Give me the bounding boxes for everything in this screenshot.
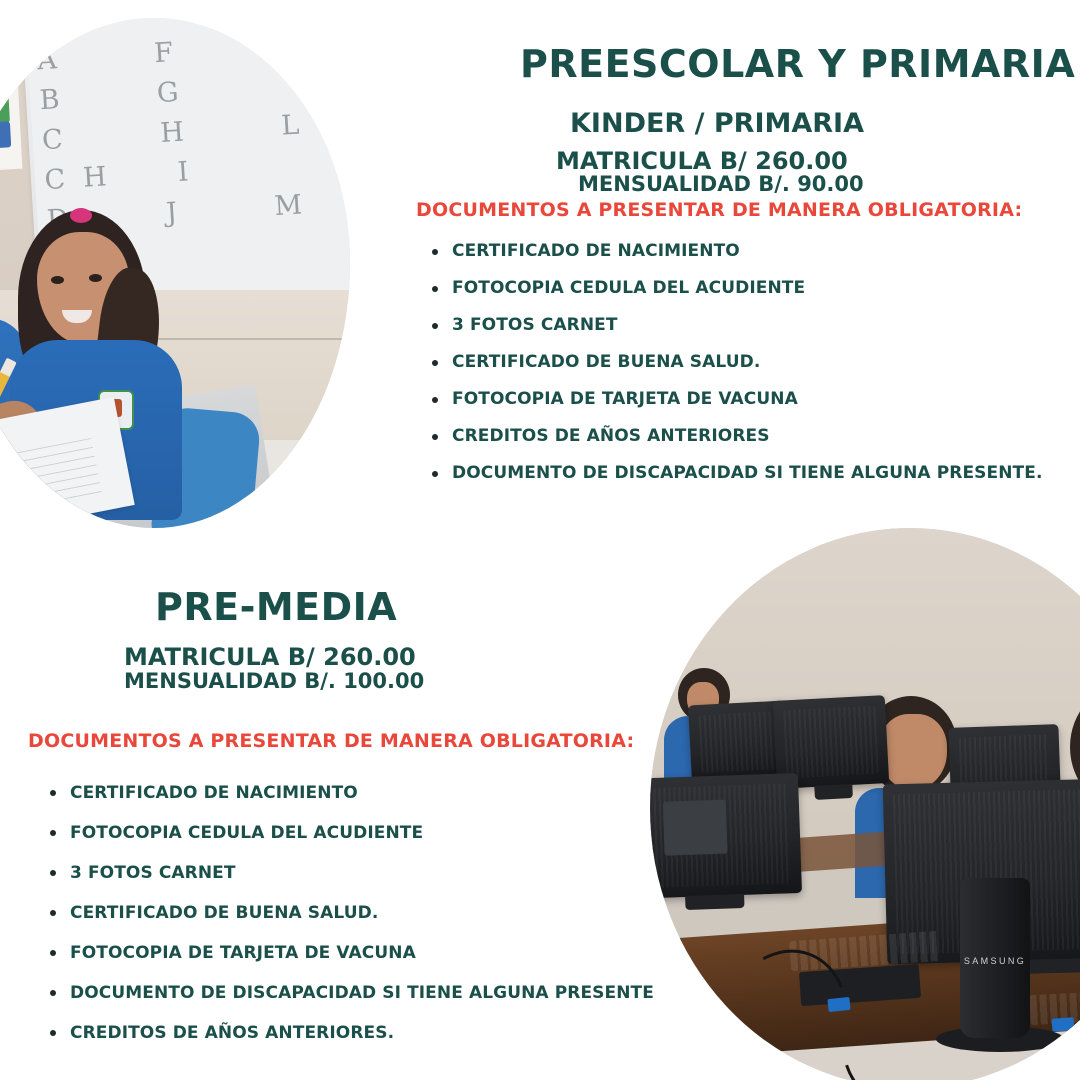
section-2-document-list: CERTIFICADO DE NACIMIENTO FOTOCOPIA CEDU… — [48, 773, 654, 1053]
bullet-icon — [432, 360, 438, 366]
list-item: CERTIFICADO DE BUENA SALUD. — [48, 893, 654, 933]
lab-vga-plug-2 — [1052, 1017, 1075, 1032]
lab-monitor-3 — [650, 773, 802, 899]
bullet-icon — [50, 830, 56, 836]
list-item: CERTIFICADO DE NACIMIENTO — [430, 233, 1043, 270]
section-1-mensualidad: MENSUALIDAD B/. 90.00 — [578, 172, 864, 196]
monitor-vent — [783, 706, 878, 779]
classroom-photo: A F D B G C H L CH I D J M — [0, 18, 350, 528]
list-item: 3 FOTOS CARNET — [48, 853, 654, 893]
section-2-matricula: MATRICULA B/ 260.00 — [124, 643, 416, 671]
bullet-icon — [432, 249, 438, 255]
bullet-icon — [50, 790, 56, 796]
list-item: CREDITOS DE AÑOS ANTERIORES. — [48, 1013, 654, 1053]
bullet-icon — [50, 950, 56, 956]
list-item-label: DOCUMENTO DE DISCAPACIDAD SI TIENE ALGUN… — [452, 463, 1043, 483]
speaker-brand-label: SAMSUNG — [960, 956, 1030, 966]
list-item: FOTOCOPIA CEDULA DEL ACUDIENTE — [48, 813, 654, 853]
bullet-icon — [50, 1030, 56, 1036]
section-2-mensualidad: MENSUALIDAD B/. 100.00 — [124, 669, 424, 693]
bullet-icon — [432, 286, 438, 292]
list-item-label: CREDITOS DE AÑOS ANTERIORES — [452, 426, 770, 446]
poster-canvas: A F D B G C H L CH I D J M — [0, 0, 1080, 1080]
section-2-requirements-heading: DOCUMENTOS A PRESENTAR DE MANERA OBLIGAT… — [28, 730, 634, 752]
classroom-scene: A F D B G C H L CH I D J M — [0, 18, 350, 528]
bullet-icon — [432, 471, 438, 477]
monitor-panel — [662, 800, 727, 856]
student-1-hair-bow — [70, 208, 92, 223]
list-item: DOCUMENTO DE DISCAPACIDAD SI TIENE ALGUN… — [48, 973, 654, 1013]
section-1-document-list: CERTIFICADO DE NACIMIENTO FOTOCOPIA CEDU… — [430, 233, 1043, 492]
list-item-label: 3 FOTOS CARNET — [452, 315, 618, 335]
bullet-icon — [50, 870, 56, 876]
list-item-label: FOTOCOPIA CEDULA DEL ACUDIENTE — [452, 278, 805, 298]
computer-lab-scene: SAMSUNG — [650, 528, 1080, 1080]
list-item-label: CERTIFICADO DE NACIMIENTO — [70, 783, 358, 803]
student-1-eye-left — [51, 276, 64, 284]
lab-student-2-face — [879, 714, 947, 790]
list-item: FOTOCOPIA CEDULA DEL ACUDIENTE — [430, 270, 1043, 307]
bullet-icon — [432, 323, 438, 329]
list-item-label: FOTOCOPIA DE TARJETA DE VACUNA — [452, 389, 798, 409]
bullet-icon — [50, 910, 56, 916]
computer-lab-photo: SAMSUNG — [650, 528, 1080, 1080]
bullet-icon — [50, 990, 56, 996]
bullet-icon — [432, 397, 438, 403]
section-2-title: PRE-MEDIA — [155, 585, 397, 629]
list-item-label: CERTIFICADO DE NACIMIENTO — [452, 241, 740, 261]
list-item: CERTIFICADO DE NACIMIENTO — [48, 773, 654, 813]
list-item: CREDITOS DE AÑOS ANTERIORES — [430, 418, 1043, 455]
list-item-label: CREDITOS DE AÑOS ANTERIORES. — [70, 1023, 394, 1043]
list-item-label: DOCUMENTO DE DISCAPACIDAD SI TIENE ALGUN… — [70, 983, 654, 1003]
section-1-subtitle: KINDER / PRIMARIA — [570, 108, 864, 139]
list-item: FOTOCOPIA DE TARJETA DE VACUNA — [48, 933, 654, 973]
list-item-label: 3 FOTOS CARNET — [70, 863, 236, 883]
section-1-matricula: MATRICULA B/ 260.00 — [556, 147, 848, 175]
workbook — [0, 397, 135, 528]
list-item-label: FOTOCOPIA DE TARJETA DE VACUNA — [70, 943, 416, 963]
student-1-eye-right — [89, 274, 102, 282]
bullet-icon — [432, 434, 438, 440]
section-1-title: PREESCOLAR Y PRIMARIA — [520, 42, 1075, 86]
list-item: CERTIFICADO DE BUENA SALUD. — [430, 344, 1043, 381]
list-item-label: CERTIFICADO DE BUENA SALUD. — [452, 352, 760, 372]
list-item: FOTOCOPIA DE TARJETA DE VACUNA — [430, 381, 1043, 418]
monitor-vent — [699, 711, 778, 773]
list-item: 3 FOTOS CARNET — [430, 307, 1043, 344]
list-item-label: CERTIFICADO DE BUENA SALUD. — [70, 903, 378, 923]
list-item-label: FOTOCOPIA CEDULA DEL ACUDIENTE — [70, 823, 423, 843]
list-item: DOCUMENTO DE DISCAPACIDAD SI TIENE ALGUN… — [430, 455, 1043, 492]
section-1-requirements-heading: DOCUMENTOS A PRESENTAR DE MANERA OBLIGAT… — [416, 199, 1022, 221]
lab-vga-plug-1 — [827, 997, 850, 1012]
